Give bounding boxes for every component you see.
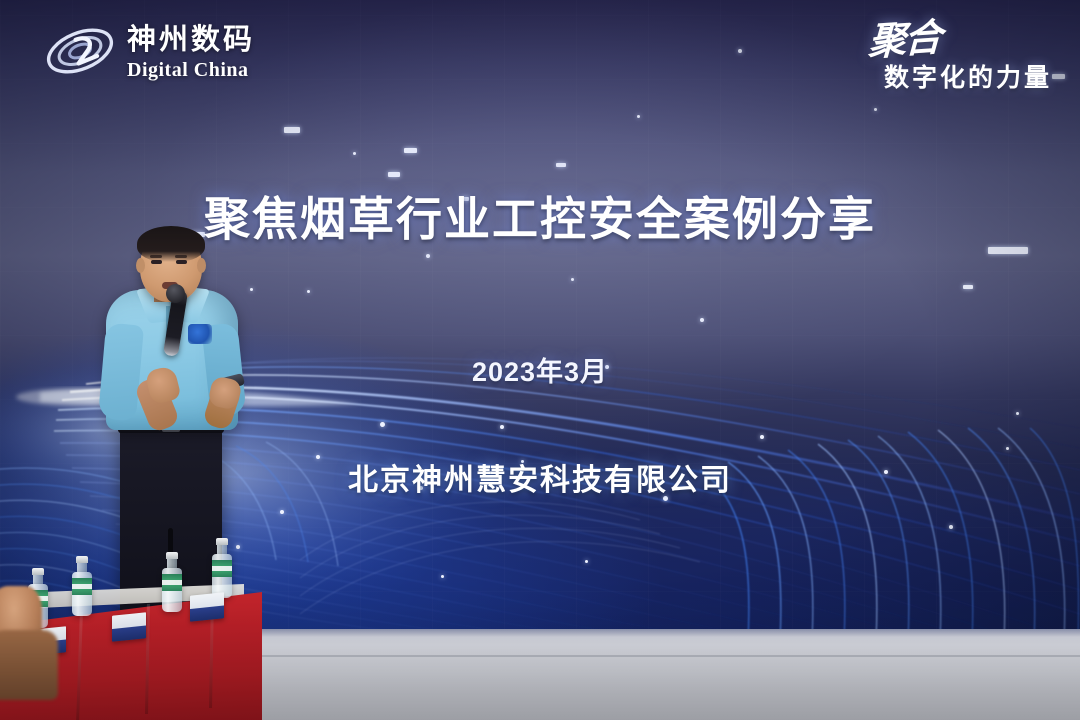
brand-logo-digital-china: 神州数码 Digital China: [44, 22, 255, 80]
bottle-neck: [167, 559, 177, 568]
speaker-ear-left: [136, 258, 145, 273]
speaker-eye-right: [176, 260, 187, 264]
bottle-body: [72, 572, 92, 616]
water-bottle: [162, 552, 182, 612]
bottle-neck: [33, 575, 43, 584]
brand-name-cn: 神州数码: [127, 26, 255, 55]
bottle-label: [72, 578, 92, 595]
speaker-eye-left: [151, 260, 162, 264]
bottle-neck: [217, 545, 227, 554]
slogan-main-calligraphy: 聚合: [868, 20, 941, 61]
stage-photo-scene: 神州数码 Digital China 聚合 数字化的力量 聚焦烟草行业工控安全案…: [0, 0, 1080, 720]
water-bottle: [72, 556, 92, 616]
brand-text-block: 神州数码 Digital China: [127, 23, 255, 80]
bottle-body: [162, 568, 182, 612]
slogan-subtitle: 数字化的力量: [868, 58, 1052, 94]
speaker-eyebrow-right: [175, 255, 187, 258]
event-slogan-block: 聚合 数字化的力量: [868, 20, 1052, 94]
foreground-attendee-body: [0, 630, 58, 700]
name-card: [190, 592, 224, 622]
digital-china-swirl-icon: [44, 22, 116, 80]
water-bottle: [212, 538, 232, 598]
bottle-cap: [76, 556, 88, 563]
brand-name-en: Digital China: [127, 60, 255, 80]
bottle-cap: [166, 552, 178, 559]
bottle-label: [212, 560, 232, 577]
bottle-cap: [32, 568, 44, 575]
name-card: [112, 612, 146, 642]
bottle-label: [162, 574, 182, 591]
bottle-cap: [216, 538, 228, 545]
speaker-eyebrow-left: [150, 255, 162, 258]
speaker-ear-right: [197, 258, 206, 273]
company-chest-logo-icon: [188, 324, 212, 344]
speaker-hair: [137, 226, 205, 262]
bottle-neck: [77, 563, 87, 572]
